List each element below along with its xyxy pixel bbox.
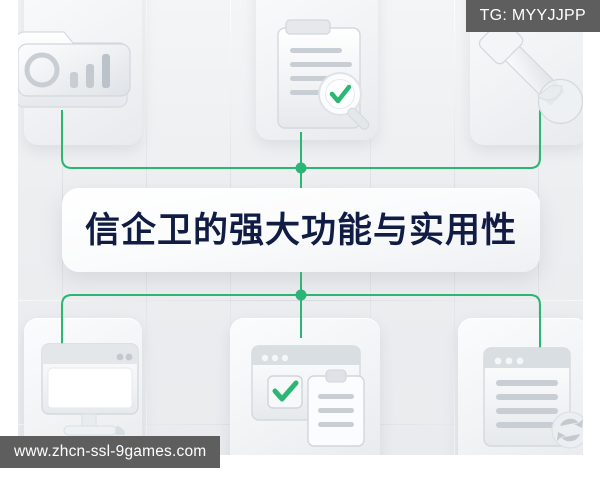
- browser-checklist-icon: [246, 336, 391, 451]
- backdrop-seam: [18, 300, 583, 301]
- title-card: 信企卫的强大功能与实用性: [62, 188, 540, 272]
- page-title: 信企卫的强大功能与实用性: [85, 213, 517, 248]
- document-sync-icon: [466, 336, 583, 454]
- connector-node-top: [296, 163, 307, 174]
- site-url-watermark-text: www.zhcn-ssl-9games.com: [14, 443, 206, 461]
- connector-node-bottom: [296, 290, 307, 301]
- telegram-watermark-text: TG: MYYJJPP: [480, 7, 586, 25]
- monitor-window-icon: [32, 338, 152, 450]
- infographic-canvas: 信企卫的强大功能与实用性: [18, 0, 583, 455]
- document-search-check-icon: [260, 14, 390, 139]
- wrench-tool-icon: [473, 16, 583, 136]
- screenshot-root: 信企卫的强大功能与实用性 TG: MYYJJPP www.zhcn-ssl-9g…: [0, 0, 600, 480]
- site-url-watermark: www.zhcn-ssl-9games.com: [0, 436, 220, 468]
- telegram-watermark-badge: TG: MYYJJPP: [466, 0, 600, 32]
- folder-analytics-icon: [18, 6, 156, 126]
